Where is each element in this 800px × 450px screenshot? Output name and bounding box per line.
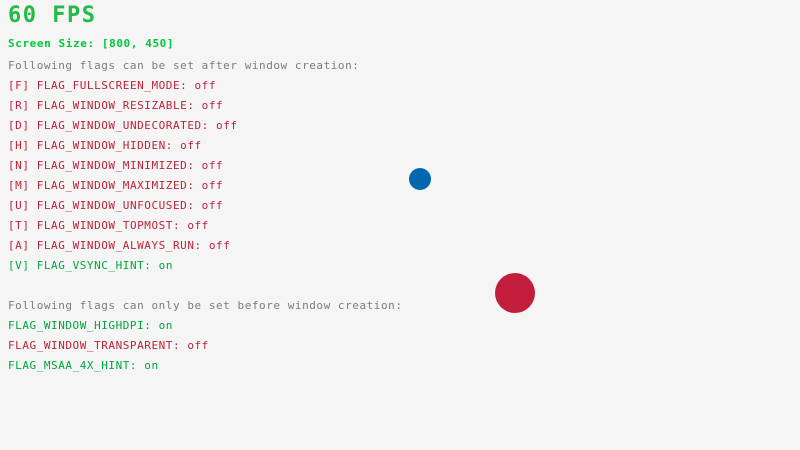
flag-state-value: off bbox=[195, 79, 217, 92]
flag-row-flag-window-hidden[interactable]: [H] FLAG_WINDOW_HIDDEN: off bbox=[8, 140, 202, 151]
flag-shortcut-key: [A] bbox=[8, 239, 37, 252]
flag-state-value: on bbox=[144, 359, 158, 372]
flag-name: FLAG_MSAA_4X_HINT: bbox=[8, 359, 144, 372]
section-heading-after-creation: Following flags can be set after window … bbox=[8, 60, 359, 71]
flag-row-flag-window-undecorated[interactable]: [D] FLAG_WINDOW_UNDECORATED: off bbox=[8, 120, 238, 131]
flag-row-flag-window-topmost[interactable]: [T] FLAG_WINDOW_TOPMOST: off bbox=[8, 220, 209, 231]
flag-name: FLAG_WINDOW_HIGHDPI: bbox=[8, 319, 159, 332]
flag-state-value: on bbox=[159, 259, 173, 272]
flag-name: FLAG_WINDOW_RESIZABLE: bbox=[37, 99, 202, 112]
flag-name: FLAG_WINDOW_MINIMIZED: bbox=[37, 159, 202, 172]
flag-name: FLAG_WINDOW_TRANSPARENT: bbox=[8, 339, 187, 352]
flag-state-value: off bbox=[180, 139, 202, 152]
flag-state-value: off bbox=[202, 159, 224, 172]
flag-state-value: off bbox=[202, 179, 224, 192]
raylib-window-canvas: 60 FPS Screen Size: [800, 450] Following… bbox=[0, 0, 800, 450]
fps-counter: 60 FPS bbox=[8, 5, 96, 27]
flag-state-value: off bbox=[202, 199, 224, 212]
blue-ball-shape bbox=[409, 168, 431, 190]
flag-state-value: off bbox=[216, 119, 238, 132]
flag-row-flag-fullscreen-mode[interactable]: [F] FLAG_FULLSCREEN_MODE: off bbox=[8, 80, 216, 91]
flag-state-value: off bbox=[202, 99, 224, 112]
flag-name: FLAG_WINDOW_UNFOCUSED: bbox=[37, 199, 202, 212]
flag-state-value: off bbox=[187, 339, 209, 352]
flag-row-flag-window-minimized[interactable]: [N] FLAG_WINDOW_MINIMIZED: off bbox=[8, 160, 223, 171]
flag-row-flag-window-always-run[interactable]: [A] FLAG_WINDOW_ALWAYS_RUN: off bbox=[8, 240, 230, 251]
flag-shortcut-key: [N] bbox=[8, 159, 37, 172]
flag-row-flag-window-transparent: FLAG_WINDOW_TRANSPARENT: off bbox=[8, 340, 209, 351]
flag-name: FLAG_WINDOW_HIDDEN: bbox=[37, 139, 180, 152]
flag-name: FLAG_WINDOW_MAXIMIZED: bbox=[37, 179, 202, 192]
flag-name: FLAG_WINDOW_UNDECORATED: bbox=[37, 119, 216, 132]
screen-size-label: Screen Size: [800, 450] bbox=[8, 38, 174, 49]
flag-shortcut-key: [F] bbox=[8, 79, 37, 92]
flag-name: FLAG_FULLSCREEN_MODE: bbox=[37, 79, 195, 92]
flag-row-flag-window-resizable[interactable]: [R] FLAG_WINDOW_RESIZABLE: off bbox=[8, 100, 223, 111]
red-ball-shape bbox=[495, 273, 535, 313]
flag-shortcut-key: [M] bbox=[8, 179, 37, 192]
flag-row-flag-window-unfocused[interactable]: [U] FLAG_WINDOW_UNFOCUSED: off bbox=[8, 200, 223, 211]
flag-shortcut-key: [R] bbox=[8, 99, 37, 112]
flag-row-flag-msaa-4x-hint: FLAG_MSAA_4X_HINT: on bbox=[8, 360, 159, 371]
flag-name: FLAG_WINDOW_TOPMOST: bbox=[37, 219, 188, 232]
flag-state-value: off bbox=[187, 219, 209, 232]
flag-shortcut-key: [V] bbox=[8, 259, 37, 272]
flag-row-flag-vsync-hint[interactable]: [V] FLAG_VSYNC_HINT: on bbox=[8, 260, 173, 271]
flag-row-flag-window-maximized[interactable]: [M] FLAG_WINDOW_MAXIMIZED: off bbox=[8, 180, 223, 191]
flag-row-flag-window-highdpi: FLAG_WINDOW_HIGHDPI: on bbox=[8, 320, 173, 331]
flag-state-value: on bbox=[159, 319, 173, 332]
flag-shortcut-key: [H] bbox=[8, 139, 37, 152]
flag-name: FLAG_WINDOW_ALWAYS_RUN: bbox=[37, 239, 209, 252]
flag-name: FLAG_VSYNC_HINT: bbox=[37, 259, 159, 272]
flag-shortcut-key: [U] bbox=[8, 199, 37, 212]
flag-shortcut-key: [D] bbox=[8, 119, 37, 132]
flag-state-value: off bbox=[209, 239, 231, 252]
section-heading-before-creation: Following flags can only be set before w… bbox=[8, 300, 403, 311]
flag-shortcut-key: [T] bbox=[8, 219, 37, 232]
